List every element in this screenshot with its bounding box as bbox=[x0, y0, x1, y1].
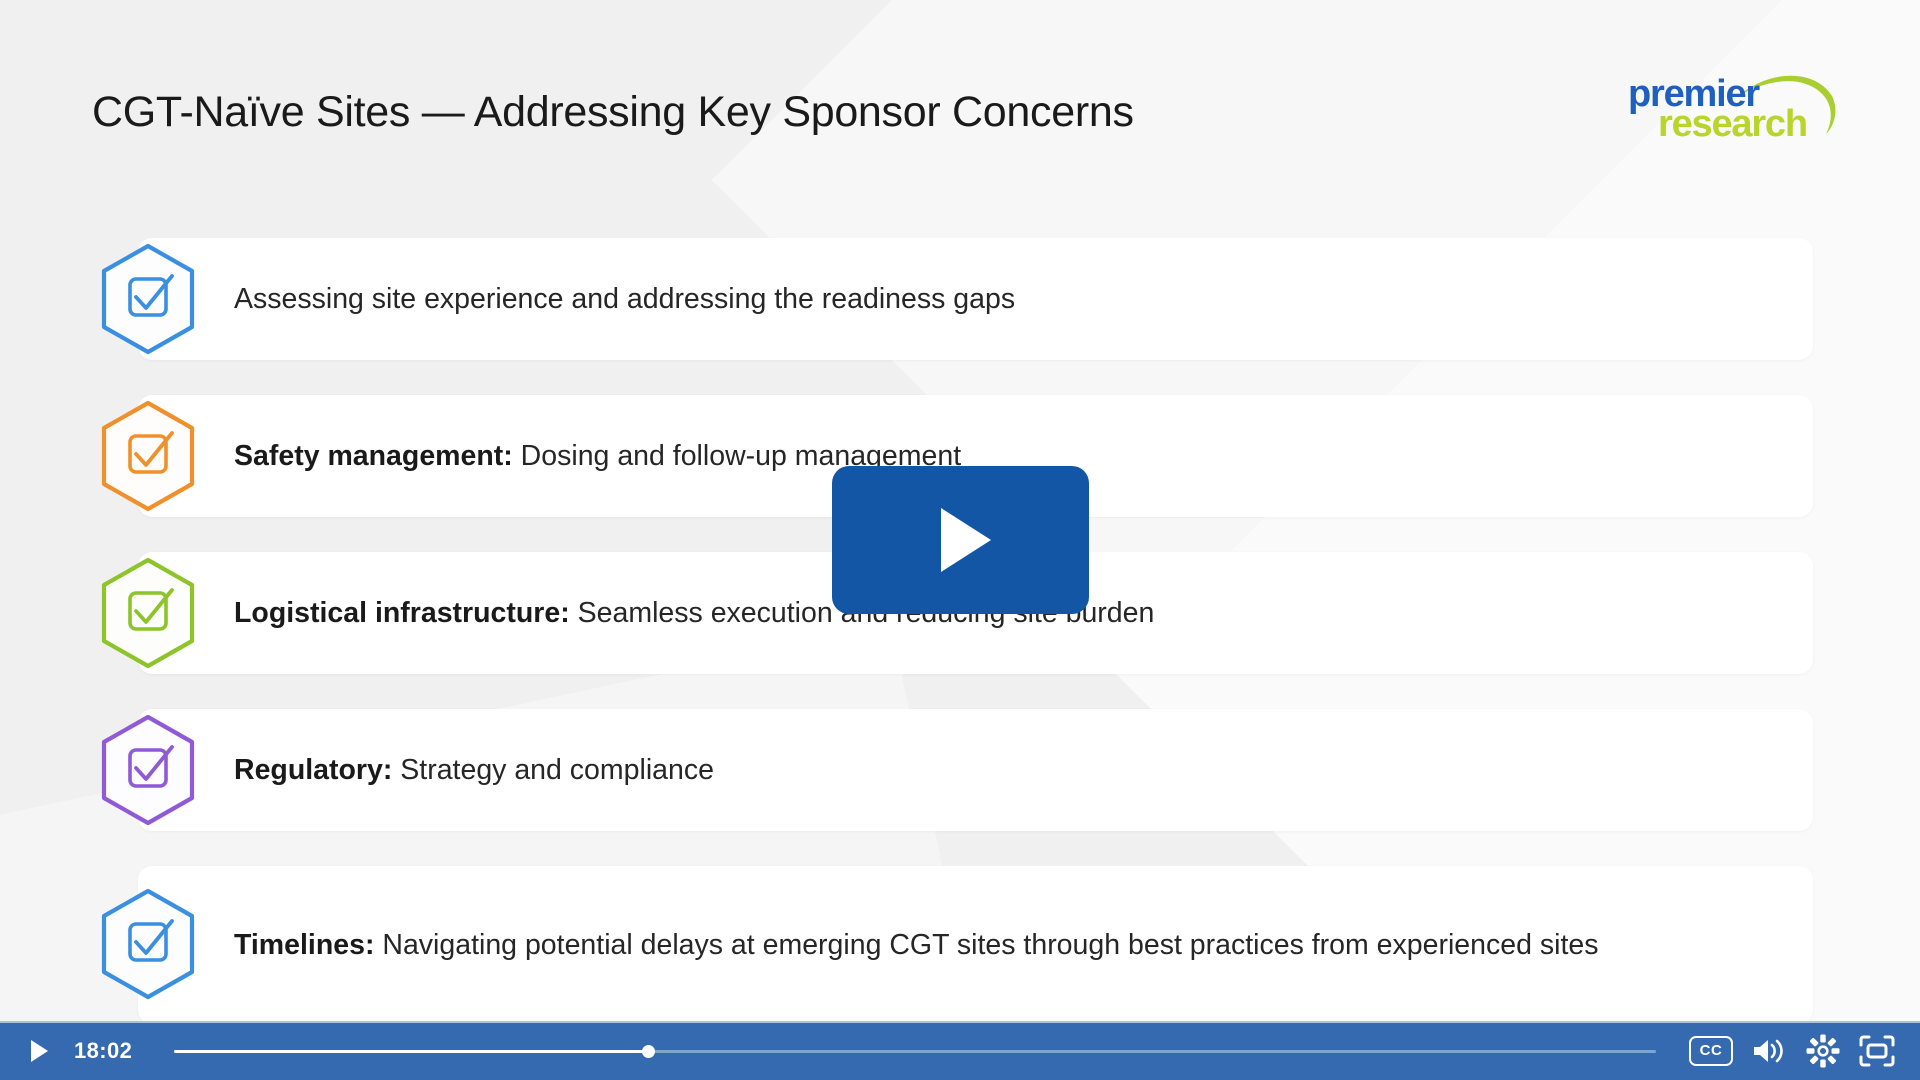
bullet-text-5: Timelines: Navigating potential delays a… bbox=[234, 921, 1689, 969]
hexagon-checkbox-icon bbox=[96, 398, 200, 514]
bullet-lead-5: Timelines: bbox=[234, 929, 374, 961]
hexagon-checkbox-icon bbox=[96, 886, 200, 1002]
volume-icon bbox=[1751, 1036, 1787, 1066]
fullscreen-icon bbox=[1859, 1035, 1895, 1067]
hexagon-checkbox-icon bbox=[96, 712, 200, 828]
bullet-lead-3: Logistical infrastructure: bbox=[234, 597, 570, 629]
premier-research-logo: premier research bbox=[1620, 62, 1845, 144]
bullet-body-1: Assessing site experience and addressing… bbox=[234, 283, 1015, 315]
bullet-card-1: Assessing site experience and addressing… bbox=[138, 238, 1813, 360]
bullet-card-4: Regulatory: Strategy and compliance bbox=[138, 709, 1813, 831]
bullet-lead-4: Regulatory: bbox=[234, 754, 392, 786]
captions-button[interactable]: CC bbox=[1684, 1029, 1738, 1073]
bullet-lead-2: Safety management: bbox=[234, 440, 513, 472]
bullet-body-4: Strategy and compliance bbox=[392, 754, 714, 786]
bullet-text-1: Assessing site experience and addressing… bbox=[234, 275, 1764, 323]
logo-word-research: research bbox=[1658, 103, 1807, 144]
seek-bar[interactable] bbox=[174, 1041, 1656, 1061]
seek-bar-handle[interactable] bbox=[642, 1045, 655, 1058]
hexagon-checkbox-icon bbox=[96, 555, 200, 671]
hexagon-checkbox-icon bbox=[96, 241, 200, 357]
page-title: CGT-Naïve Sites — Addressing Key Sponsor… bbox=[92, 88, 1134, 137]
bullet-body-5: Navigating potential delays at emerging … bbox=[374, 929, 1598, 961]
play-icon bbox=[941, 508, 991, 572]
video-play-overlay-button[interactable] bbox=[832, 466, 1089, 614]
control-bar-top-divider bbox=[0, 1021, 1920, 1023]
play-button[interactable] bbox=[22, 1034, 56, 1068]
captions-label: CC bbox=[1689, 1036, 1733, 1066]
bullet-text-4: Regulatory: Strategy and compliance bbox=[234, 746, 1764, 794]
settings-button[interactable] bbox=[1796, 1029, 1850, 1073]
fullscreen-button[interactable] bbox=[1850, 1029, 1904, 1073]
gear-icon bbox=[1806, 1034, 1840, 1068]
bullet-card-5: Timelines: Navigating potential delays a… bbox=[138, 866, 1813, 1021]
volume-button[interactable] bbox=[1742, 1029, 1796, 1073]
logo-svg: premier research bbox=[1620, 62, 1845, 144]
seek-bar-fill bbox=[174, 1050, 648, 1053]
play-icon bbox=[31, 1040, 48, 1062]
timecode-label: 18:02 bbox=[74, 1038, 152, 1064]
video-control-bar: 18:02 CC bbox=[0, 1021, 1920, 1080]
